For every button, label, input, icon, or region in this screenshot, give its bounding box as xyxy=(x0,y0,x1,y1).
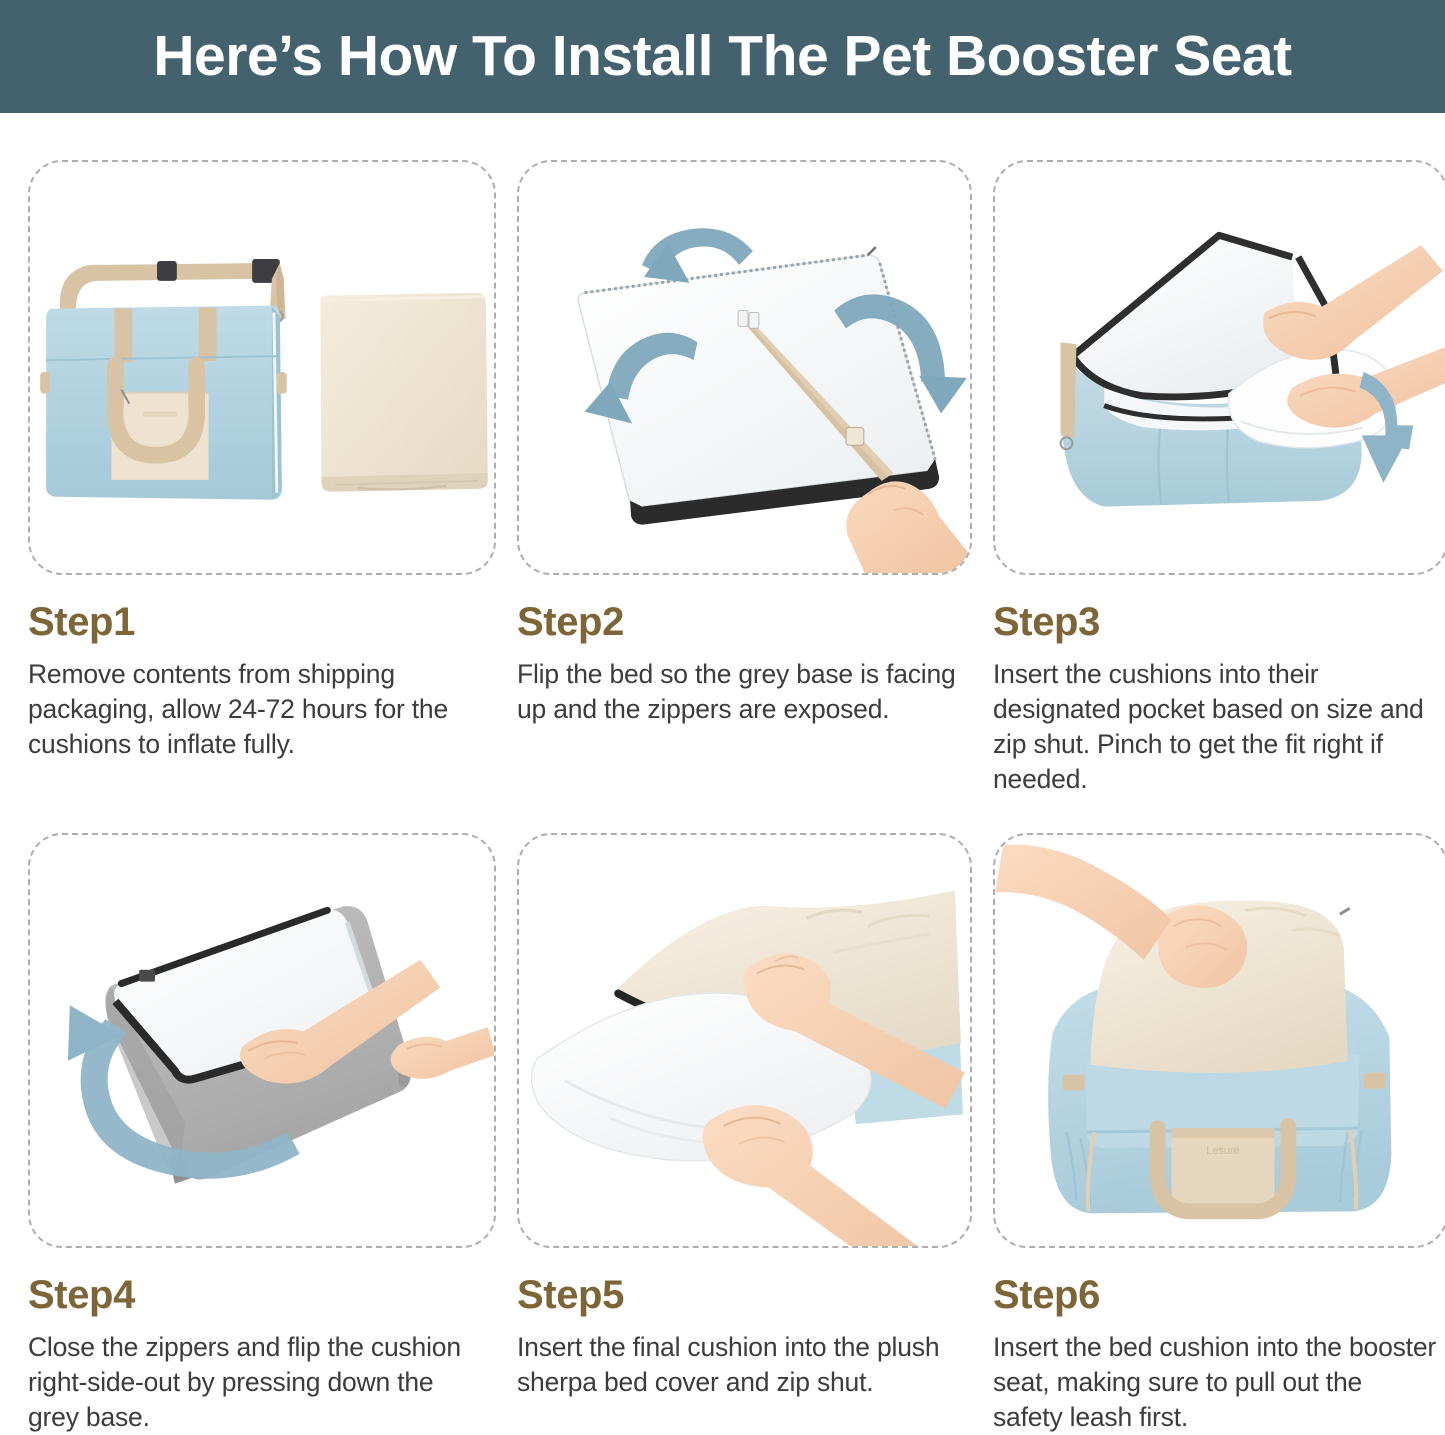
svg-text:Lesure: Lesure xyxy=(1206,1145,1239,1157)
step-card-1: Step1 Remove contents from shipping pack… xyxy=(28,160,496,797)
step-4-label: Step4 xyxy=(28,1274,496,1316)
hand-pulling-corner xyxy=(846,481,970,573)
step-5-description: Insert the final cushion into the plush … xyxy=(517,1330,962,1400)
step-6-illustration: Lesure xyxy=(993,833,1445,1248)
page-header: Here’s How To Install The Pet Booster Se… xyxy=(0,0,1445,113)
step-2-label: Step2 xyxy=(517,601,972,643)
step-5-illustration xyxy=(517,833,972,1248)
step-6-label: Step6 xyxy=(993,1274,1445,1316)
infographic-page: Here’s How To Install The Pet Booster Se… xyxy=(0,0,1445,1393)
hand-gripping-right xyxy=(391,1027,494,1079)
step-1-illustration xyxy=(28,160,496,575)
step-6-description: Insert the bed cushion into the booster … xyxy=(993,1330,1438,1435)
step-2-description: Flip the bed so the grey base is facing … xyxy=(517,657,962,727)
step-card-6: Lesure Step6 xyxy=(993,833,1445,1435)
step-3-label: Step3 xyxy=(993,601,1445,643)
step-4-illustration xyxy=(28,833,496,1248)
page-title: Here’s How To Install The Pet Booster Se… xyxy=(153,28,1291,85)
step-card-4: Step4 Close the zippers and flip the cus… xyxy=(28,833,496,1435)
step-1-description: Remove contents from shipping packaging,… xyxy=(28,657,473,762)
step-2-illustration xyxy=(517,160,972,575)
step-3-description: Insert the cushions into their designate… xyxy=(993,657,1438,797)
steps-grid: Step1 Remove contents from shipping pack… xyxy=(0,113,1445,1435)
step-5-label: Step5 xyxy=(517,1274,972,1316)
step-1-label: Step1 xyxy=(28,601,496,643)
step-card-5: Step5 Insert the final cushion into the … xyxy=(517,833,972,1435)
step-3-illustration xyxy=(993,160,1445,575)
step-card-2: Step2 Flip the bed so the grey base is f… xyxy=(517,160,972,797)
step-4-description: Close the zippers and flip the cushion r… xyxy=(28,1330,473,1435)
folded-sherpa-blanket xyxy=(320,293,487,492)
step-card-3: Step3 Insert the cushions into their des… xyxy=(993,160,1445,797)
